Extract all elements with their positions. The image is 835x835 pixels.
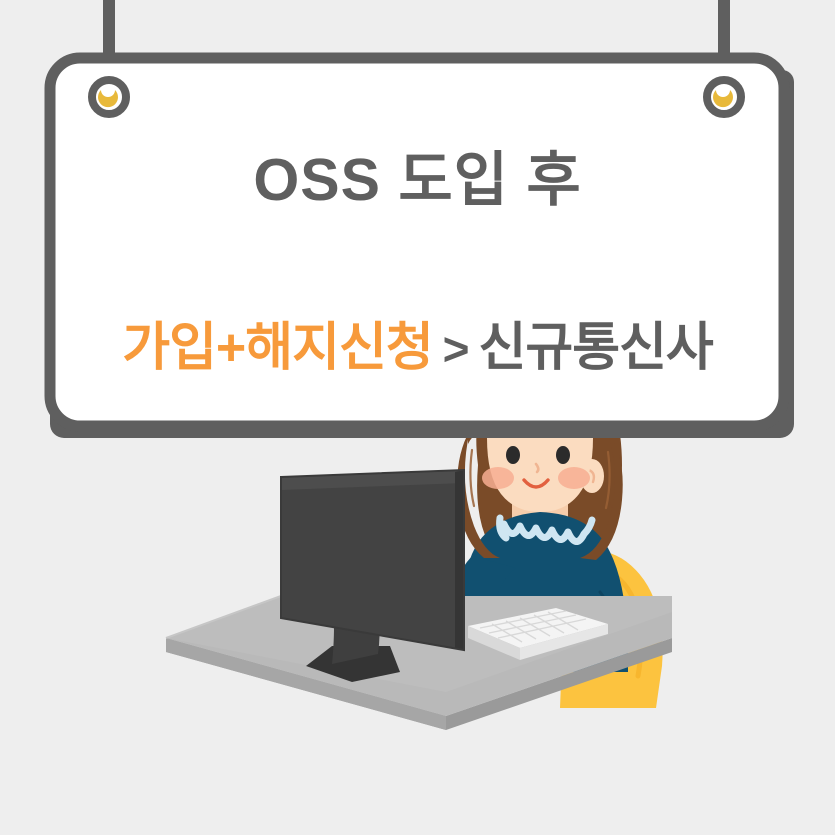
poster-canvas: OSS 도입 후 가입+해지신청>신규통신사 [0, 0, 835, 835]
board-face [50, 58, 784, 426]
signboard-layer [0, 0, 835, 835]
hook-left [92, 80, 126, 114]
hook-right [707, 80, 741, 114]
